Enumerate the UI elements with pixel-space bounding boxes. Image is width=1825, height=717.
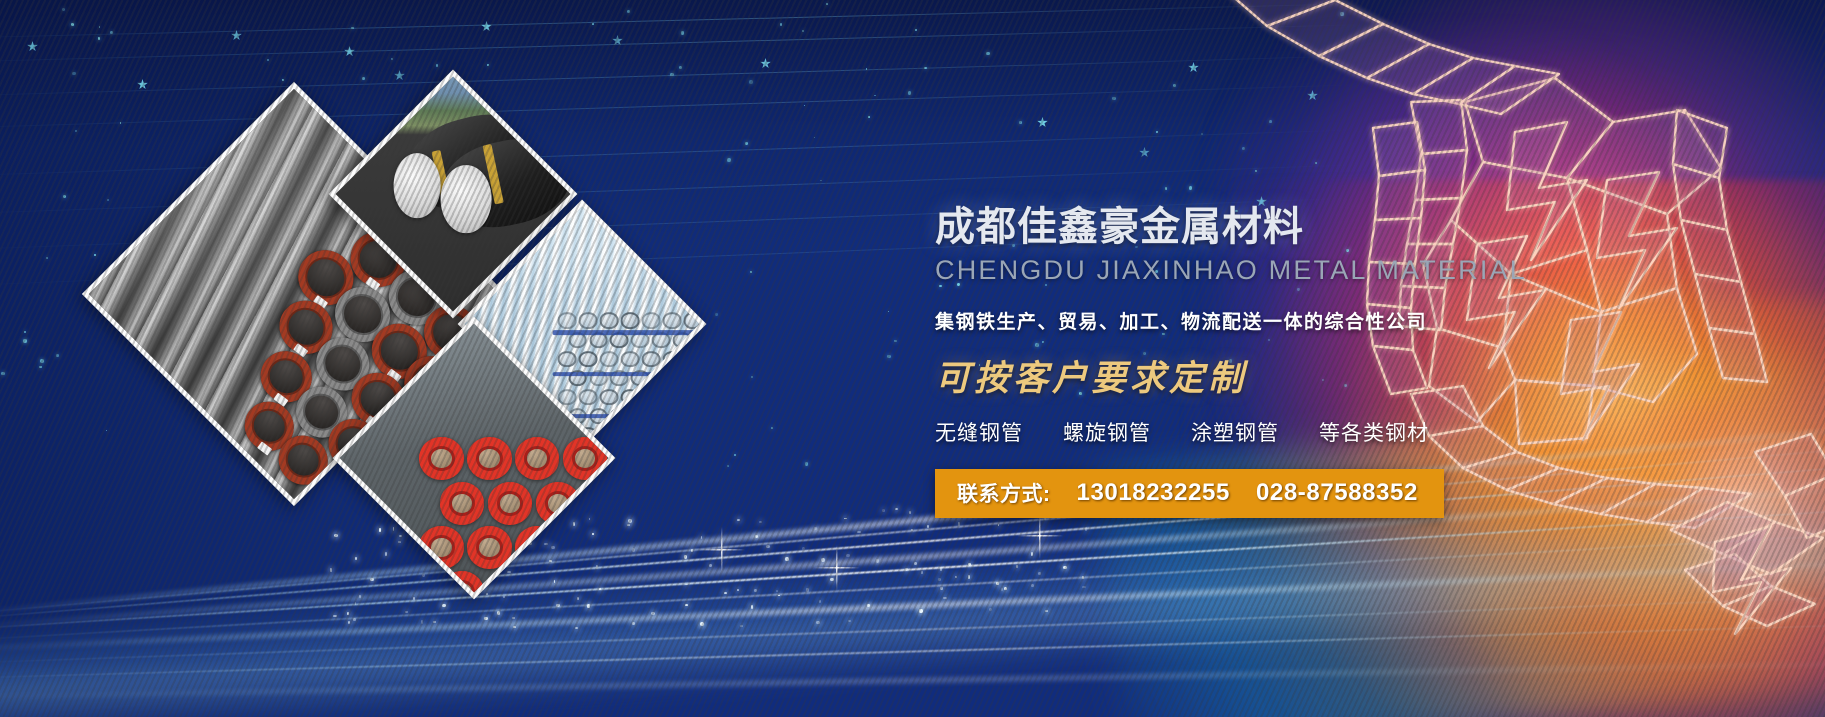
product-item-coated: 涂塑钢管 (1191, 417, 1279, 447)
contact-phone-landline[interactable]: 028-87588352 (1256, 479, 1418, 507)
company-name-chinese: 成都佳鑫豪金属材料 (935, 205, 1635, 249)
company-name-english: CHENGDU JIAXINHAO METAL MATERIAL (935, 255, 1635, 286)
promotional-banner: 成都佳鑫豪金属材料 CHENGDU JIAXINHAO METAL MATERI… (0, 0, 1825, 717)
product-item-seamless: 无缝钢管 (935, 417, 1023, 447)
contact-phone-mobile[interactable]: 13018232255 (1077, 479, 1230, 507)
custom-order-headline: 可按客户要求定制 (935, 350, 1635, 401)
banner-copy: 成都佳鑫豪金属材料 CHENGDU JIAXINHAO METAL MATERI… (935, 205, 1635, 518)
product-item-other: 等各类钢材 (1319, 417, 1429, 447)
company-tagline: 集钢铁生产、贸易、加工、物流配送一体的综合性公司 (935, 307, 1635, 334)
contact-label: 联系方式: (957, 478, 1051, 508)
contact-bar: 联系方式: 13018232255 028-87588352 (935, 469, 1444, 518)
product-list: 无缝钢管 螺旋钢管 涂塑钢管 等各类钢材 (935, 417, 1635, 447)
product-item-spiral: 螺旋钢管 (1063, 417, 1151, 447)
